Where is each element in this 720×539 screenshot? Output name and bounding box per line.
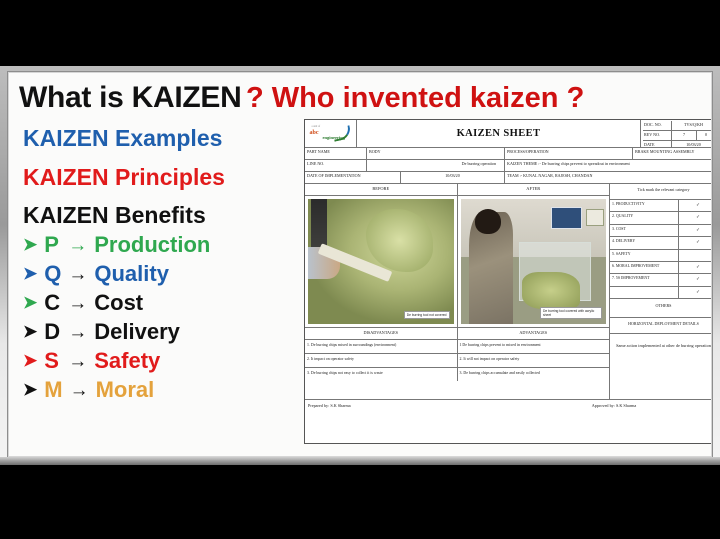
benefit-label-delivery: Delivery (94, 321, 180, 343)
sheet-title-row: a unit of abc engineering KAIZEN SHEET D… (305, 120, 712, 148)
benefit-letter-s: S (44, 350, 61, 372)
list-item-cost: ➤ C → Cost (23, 292, 299, 314)
check-icon: ✓ (679, 212, 712, 223)
advantage-2: 2. It will not impact on operator safety (458, 354, 610, 367)
label-process-operation: PROCESS/OPERATION (505, 148, 633, 159)
benefit-label-moral: Moral (96, 379, 155, 401)
adv-disadv-rows: 1. De burring chips mixed in surrounding… (305, 340, 609, 381)
meta-row-docno: DOC. NO. TVS/Q/KH (643, 121, 712, 131)
benefit-letter-q: Q (44, 263, 61, 285)
logo-line-2: abc (310, 130, 319, 136)
disadvantage-2: 2. It impact on operator safety (305, 354, 458, 367)
after-header: AFTER (458, 184, 610, 195)
disadvantage-1: 1. De burring chips mixed in surrounding… (305, 340, 458, 353)
benefit-letter-p: P (44, 234, 61, 256)
after-photo: De burring tool covered with acrylic she… (461, 199, 607, 324)
category-label-5s: 7. 5S IMPROVEMENT (610, 274, 679, 285)
right-arrow-icon: → (70, 381, 89, 400)
category-label-delivery: 4. DELIVERY (610, 237, 679, 248)
kaizen-theme: KAIZEN THEME :- De burring chips prevent… (505, 160, 712, 171)
table-row: ✓ (610, 287, 712, 299)
category-label-blank (610, 287, 679, 298)
after-notice-board-2 (586, 209, 604, 226)
value-part-name: BODY (367, 148, 505, 159)
check-icon: ✓ (679, 237, 712, 248)
category-others: OTHERS (610, 299, 712, 318)
before-after-block: BEFORE AFTER De burring tool not covered (305, 184, 610, 399)
sheet-row-lineno: LINE NO. De burring operation KAIZEN THE… (305, 160, 712, 172)
sheet-middle-section: BEFORE AFTER De burring tool not covered (305, 184, 712, 399)
value-process-operation: BRAKE MOUNTING ASSEMBLY (633, 148, 712, 159)
table-row: 1. De burring chips mixed in surrounding… (305, 340, 609, 354)
table-row: 3. De burring chips not easy to collect … (305, 368, 609, 381)
before-operator-hand (308, 247, 340, 280)
check-icon: ✓ (679, 225, 712, 236)
check-icon (679, 250, 712, 261)
meta-val-date: 10/03/20 (672, 141, 712, 147)
meta-key-revno: REV NO. (643, 131, 672, 140)
table-row: 5. SAFETY (610, 250, 712, 262)
list-item-production: ➤ P → Production (23, 234, 299, 256)
sheet-title-cell: KAIZEN SHEET (357, 120, 641, 147)
list-item-delivery: ➤ D → Delivery (23, 321, 299, 343)
category-label-quality: 2. QUALITY (610, 212, 679, 223)
check-icon: ✓ (679, 262, 712, 273)
advantages-header: ADVANTAGES (458, 328, 610, 339)
check-icon: ✓ (679, 200, 712, 211)
horizontal-deployment: HORIZONTAL DEPLOYMENT DETAILS Same actio… (610, 318, 712, 358)
after-part-shape (522, 272, 580, 310)
list-item-quality: ➤ Q → Quality (23, 263, 299, 285)
left-column: KAIZEN Examples KAIZEN Principles KAIZEN… (23, 79, 299, 401)
arrow-bullet-icon: ➤ (23, 294, 37, 311)
meta-val-revno: 0 (697, 131, 712, 140)
label-line-no: LINE NO. (305, 160, 367, 171)
value-line-no: De burring operation (367, 160, 505, 171)
benefit-letter-d: D (44, 321, 61, 343)
arrow-bullet-icon: ➤ (23, 352, 37, 369)
before-part-shape (366, 209, 433, 272)
disadvantages-header: DISADVANTAGES (305, 328, 458, 339)
after-operator-head (475, 209, 501, 234)
right-arrow-icon: → (68, 294, 87, 313)
before-header: BEFORE (305, 184, 458, 195)
right-arrow-icon: → (68, 352, 87, 371)
heading-kaizen-principles: KAIZEN Principles (23, 166, 299, 189)
disadvantage-3: 3. De burring chips not easy to collect … (305, 368, 458, 381)
before-photo-pane: De burring tool not covered (305, 196, 458, 327)
category-label-safety: 5. SAFETY (610, 250, 679, 261)
advantage-1: 1 De burring chips prevent to mixed in e… (458, 340, 610, 353)
team-members: TEAM :- KUNAL NAGAR, RAJESH, CHANDAN (505, 172, 712, 183)
adv-disadv-headers: DISADVANTAGES ADVANTAGES (305, 328, 609, 340)
check-icon: ✓ (679, 287, 712, 298)
heading-kaizen-examples: KAIZEN Examples (23, 127, 299, 150)
value-date-implementation: 10/03/20 (401, 172, 505, 183)
table-row: 2. It impact on operator safety 2. It wi… (305, 354, 609, 368)
sheet-title: KAIZEN SHEET (457, 128, 541, 139)
horizontal-deployment-header: HORIZONTAL DEPLOYMENT DETAILS (610, 318, 712, 334)
meta-key-date: DATE (643, 141, 672, 147)
before-after-photos: De burring tool not covered (305, 196, 609, 328)
benefit-letter-m: M (44, 379, 62, 401)
list-item-safety: ➤ S → Safety (23, 350, 299, 372)
before-callout-label: De burring tool not covered (404, 311, 450, 319)
signature-row: Prepared by: S.K Sharma Approved by: S.K… (305, 399, 712, 412)
table-row: 6. MORAL IMPROVEMENT ✓ (610, 262, 712, 274)
before-after-headers: BEFORE AFTER (305, 184, 609, 196)
company-logo: a unit of abc engineering (305, 120, 357, 147)
arrow-bullet-icon: ➤ (23, 323, 37, 340)
arrow-bullet-icon: ➤ (23, 236, 37, 253)
meta-val-docno: TVS/Q/KH (672, 121, 712, 130)
table-row: 1. PRODUCTIVITY ✓ (610, 200, 712, 212)
horizontal-deployment-body: Same action implemented at other de burr… (610, 334, 712, 358)
benefit-label-cost: Cost (94, 292, 143, 314)
category-label-cost: 3. COST (610, 225, 679, 236)
check-icon: ✓ (679, 274, 712, 285)
video-frame-stage: What is KAIZEN ? Who invented kaizen ? K… (0, 0, 720, 539)
category-label-productivity: 1. PRODUCTIVITY (610, 200, 679, 211)
approved-by: Approved by: S.K Sharma (511, 400, 712, 412)
slide-content: What is KAIZEN ? Who invented kaizen ? K… (8, 72, 712, 457)
advantage-3: 3. De burring chips accumulate and easil… (458, 368, 610, 381)
benefit-label-safety: Safety (94, 350, 160, 372)
after-photo-pane: De burring tool covered with acrylic she… (458, 196, 610, 327)
table-row: 2. QUALITY ✓ (610, 212, 712, 224)
label-part-name: PART NAME (305, 148, 367, 159)
category-checklist: Tick mark the relevant category 1. PRODU… (610, 184, 712, 399)
right-arrow-icon: → (68, 265, 87, 284)
kaizen-sheet: a unit of abc engineering KAIZEN SHEET D… (304, 119, 712, 444)
benefit-label-quality: Quality (94, 263, 169, 285)
meta-key-docno: DOC. NO. (643, 121, 672, 130)
right-arrow-icon: → (68, 236, 87, 255)
before-photo: De burring tool not covered (308, 199, 454, 324)
category-checklist-header: Tick mark the relevant category (610, 184, 712, 200)
arrow-bullet-icon: ➤ (23, 265, 37, 282)
benefits-list: ➤ P → Production ➤ Q → Quality ➤ C → Cos… (23, 234, 299, 401)
label-date-implementation: DATE OF IMPLEMENTATION (305, 172, 401, 183)
logo-line-1: a unit of (312, 125, 321, 128)
meta-row-date: DATE 10/03/20 (643, 141, 712, 147)
right-arrow-icon: → (68, 323, 87, 342)
benefit-label-production: Production (94, 234, 210, 256)
table-row: 4. DELIVERY ✓ (610, 237, 712, 249)
prepared-by: Prepared by: S.K Sharma (305, 400, 511, 412)
after-notice-board (551, 207, 582, 229)
sheet-row-partname: PART NAME BODY PROCESS/OPERATION BRAKE M… (305, 148, 712, 160)
category-label-moral: 6. MORAL IMPROVEMENT (610, 262, 679, 273)
benefit-letter-c: C (44, 292, 61, 314)
logo-swoosh-icon (331, 125, 351, 141)
after-callout-label: De burring tool covered with acrylic she… (540, 307, 602, 319)
list-item-moral: ➤ M → Moral (23, 379, 299, 401)
player-bottom-bezel (0, 457, 720, 465)
heading-kaizen-benefits: KAIZEN Benefits (23, 204, 299, 227)
sheet-meta-block: DOC. NO. TVS/Q/KH REV NO. 7 0 DATE 10/03… (641, 120, 712, 147)
sheet-row-date-impl: DATE OF IMPLEMENTATION 10/03/20 TEAM :- … (305, 172, 712, 184)
table-row: 3. COST ✓ (610, 225, 712, 237)
arrow-bullet-icon: ➤ (23, 381, 37, 398)
table-row: 7. 5S IMPROVEMENT ✓ (610, 274, 712, 286)
meta-row-revno: REV NO. 7 0 (643, 131, 712, 141)
meta-val2-revno: 7 (672, 131, 697, 140)
